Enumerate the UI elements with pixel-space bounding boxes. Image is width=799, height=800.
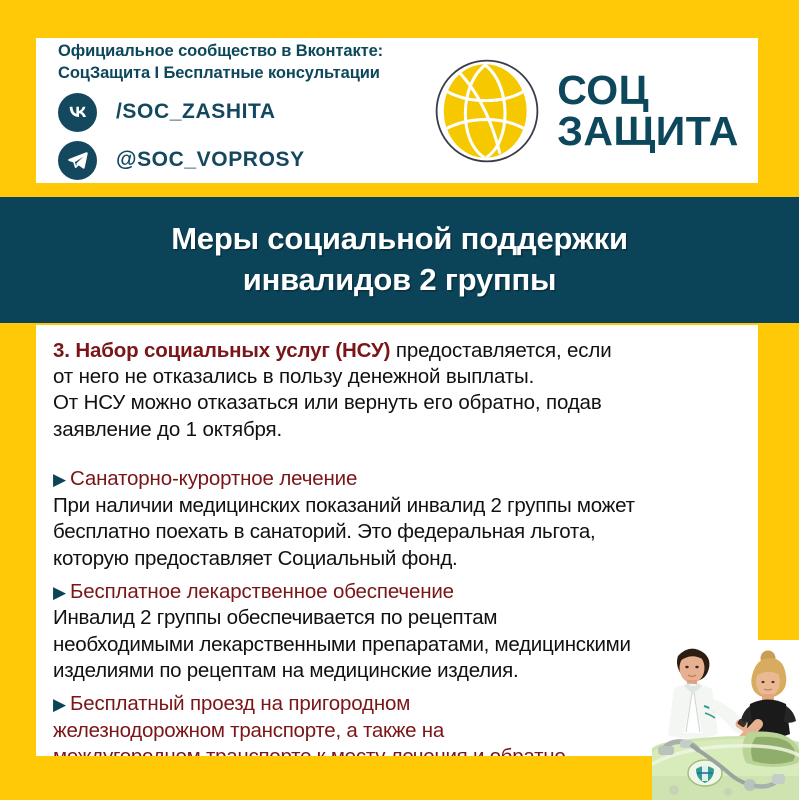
telegram-icon[interactable] [58,141,97,180]
lead-line-3: От НСУ можно отказаться или вернуть его … [53,390,744,416]
brand-wordmark: СОЦ ЗАЩИТА [557,70,739,150]
content-card: 3. Набор социальных услуг (НСУ) предоста… [36,325,758,756]
vk-handle[interactable]: /SOC_ZASHITA [116,100,276,124]
benefit-heading-medicines: ▶Бесплатное лекарственное обеспечение [53,579,744,606]
page-title-line-1: Меры социальной поддержки [171,219,628,260]
benefit-body-line: которую предоставляет Социальный фонд. [53,546,744,573]
brand-logo: СОЦ ЗАЩИТА [422,57,758,165]
benefit-heading-text: Бесплатное лекарственное обеспечение [70,580,454,603]
benefit-heading-text: Бесплатный проезд на пригородном [70,692,410,715]
community-line-2: СоцЗащита I Бесплатные консультации [58,63,422,84]
triangle-bullet-icon: ▶ [53,583,66,602]
benefit-body-line: железнодорожном транспорте, а также на [53,718,744,745]
triangle-bullet-icon: ▶ [53,695,66,714]
brand-word-1: СОЦ [557,70,739,110]
benefit-heading-transport: ▶Бесплатный проезд на пригородном [53,691,744,718]
benefit-heading-text: Санаторно-курортное лечение [70,467,357,490]
globe-icon [433,57,541,165]
vk-icon[interactable] [58,93,97,132]
poster-root: Официальное сообщество в Вконтакте: СоцЗ… [0,0,799,800]
lead-rest: предоставляется, если [390,339,611,362]
benefit-body-transport: железнодорожном транспорте, а также на м… [53,718,744,756]
lead-line-4: заявление до 1 октября. [53,417,744,443]
benefit-body-line: Инвалид 2 группы обеспечивается по рецеп… [53,605,744,632]
benefit-block-medicines: ▶Бесплатное лекарственное обеспечение Ин… [53,579,744,686]
benefit-block-transport: ▶Бесплатный проезд на пригородном железн… [53,691,744,756]
benefit-body-line: междугородном транспорте к месту лечения… [53,744,744,756]
social-row-telegram[interactable]: @SOC_VOPROSY [58,141,422,180]
benefit-block-sanatorium: ▶Санаторно-курортное лечение При наличии… [53,466,744,573]
page-title-line-2: инвалидов 2 группы [243,260,557,301]
social-row-vk[interactable]: /SOC_ZASHITA [58,93,422,132]
header-card: Официальное сообщество в Вконтакте: СоцЗ… [36,38,758,183]
header-contact-block: Официальное сообщество в Вконтакте: СоцЗ… [36,41,422,180]
community-line-1: Официальное сообщество в Вконтакте: [58,41,422,62]
lead-bold-label: 3. Набор социальных услуг (НСУ) [53,339,390,362]
telegram-handle[interactable]: @SOC_VOPROSY [116,148,305,172]
benefit-body-medicines: Инвалид 2 группы обеспечивается по рецеп… [53,605,744,685]
hydrotherapy-photo [652,640,799,800]
benefit-body-line: изделиями по рецептам на медицинские изд… [53,658,744,685]
triangle-bullet-icon: ▶ [53,470,66,489]
lead-spacer [53,443,744,460]
benefit-body-line: При наличии медицинских показаний инвали… [53,493,744,520]
benefit-heading-sanatorium: ▶Санаторно-курортное лечение [53,466,744,493]
lead-paragraph: 3. Набор социальных услуг (НСУ) предоста… [53,338,744,443]
lead-line-2: от него не отказались в пользу денежной … [53,364,744,390]
benefit-body-line: бесплатно поехать в санаторий. Это федер… [53,519,744,546]
brand-word-2: ЗАЩИТА [557,111,739,151]
benefit-body-sanatorium: При наличии медицинских показаний инвали… [53,493,744,573]
title-banner: Меры социальной поддержки инвалидов 2 гр… [0,197,799,323]
benefit-body-line: необходимыми лекарственными препаратами,… [53,632,744,659]
